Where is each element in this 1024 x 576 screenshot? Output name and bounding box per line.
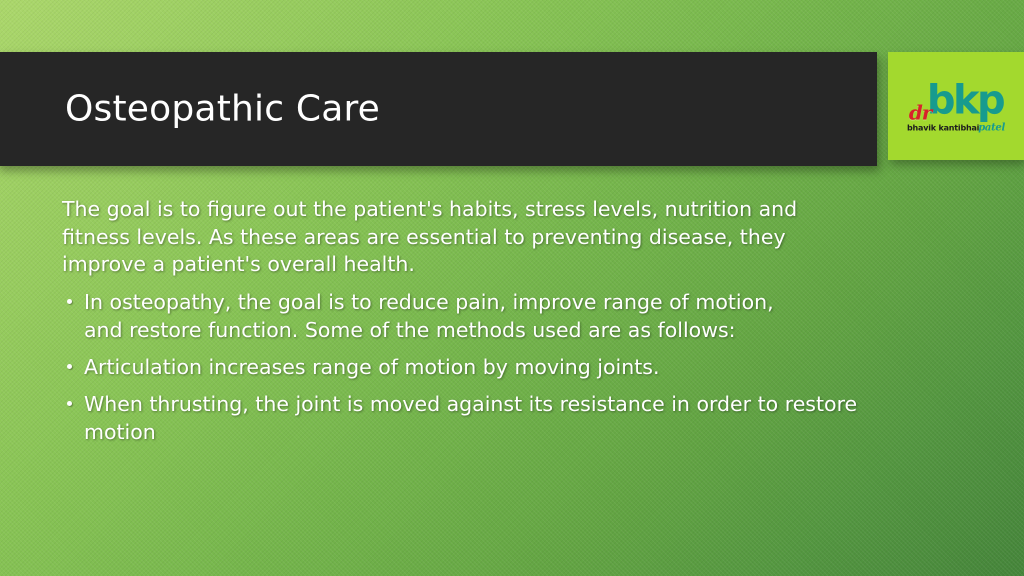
brand-logo: dr bkp bhavik kantibhaipatel — [888, 52, 1024, 160]
logo-inner: dr bkp bhavik kantibhaipatel — [888, 79, 1024, 134]
bullet-text: When thrusting, the joint is moved again… — [84, 390, 866, 446]
bullet-item: When thrusting, the joint is moved again… — [62, 390, 862, 446]
slide-title-bar: Osteopathic Care — [0, 52, 877, 166]
bullet-text: Articulation increases range of motion b… — [84, 353, 844, 381]
bullet-dot-icon — [67, 401, 72, 406]
bullet-dot-icon — [67, 364, 72, 369]
bullet-item: Articulation increases range of motion b… — [62, 353, 862, 381]
bullet-dot-icon — [67, 299, 72, 304]
logo-wordmark-bkp: bkp — [927, 79, 1003, 123]
logo-wordmark-group: dr bkp — [909, 79, 1003, 123]
presentation-slide: Osteopathic Care dr bkp bhavik kantibhai… — [0, 0, 1024, 576]
bullet-item: In osteopathy, the goal is to reduce pai… — [62, 288, 862, 344]
logo-subtitle-lastname: patel — [978, 123, 1005, 134]
page-title: Osteopathic Care — [65, 89, 380, 130]
bullet-text: In osteopathy, the goal is to reduce pai… — [84, 288, 804, 344]
logo-prefix-dr: dr — [909, 91, 932, 135]
slide-body: The goal is to figure out the patient's … — [62, 196, 862, 455]
intro-paragraph: The goal is to figure out the patient's … — [62, 196, 852, 279]
